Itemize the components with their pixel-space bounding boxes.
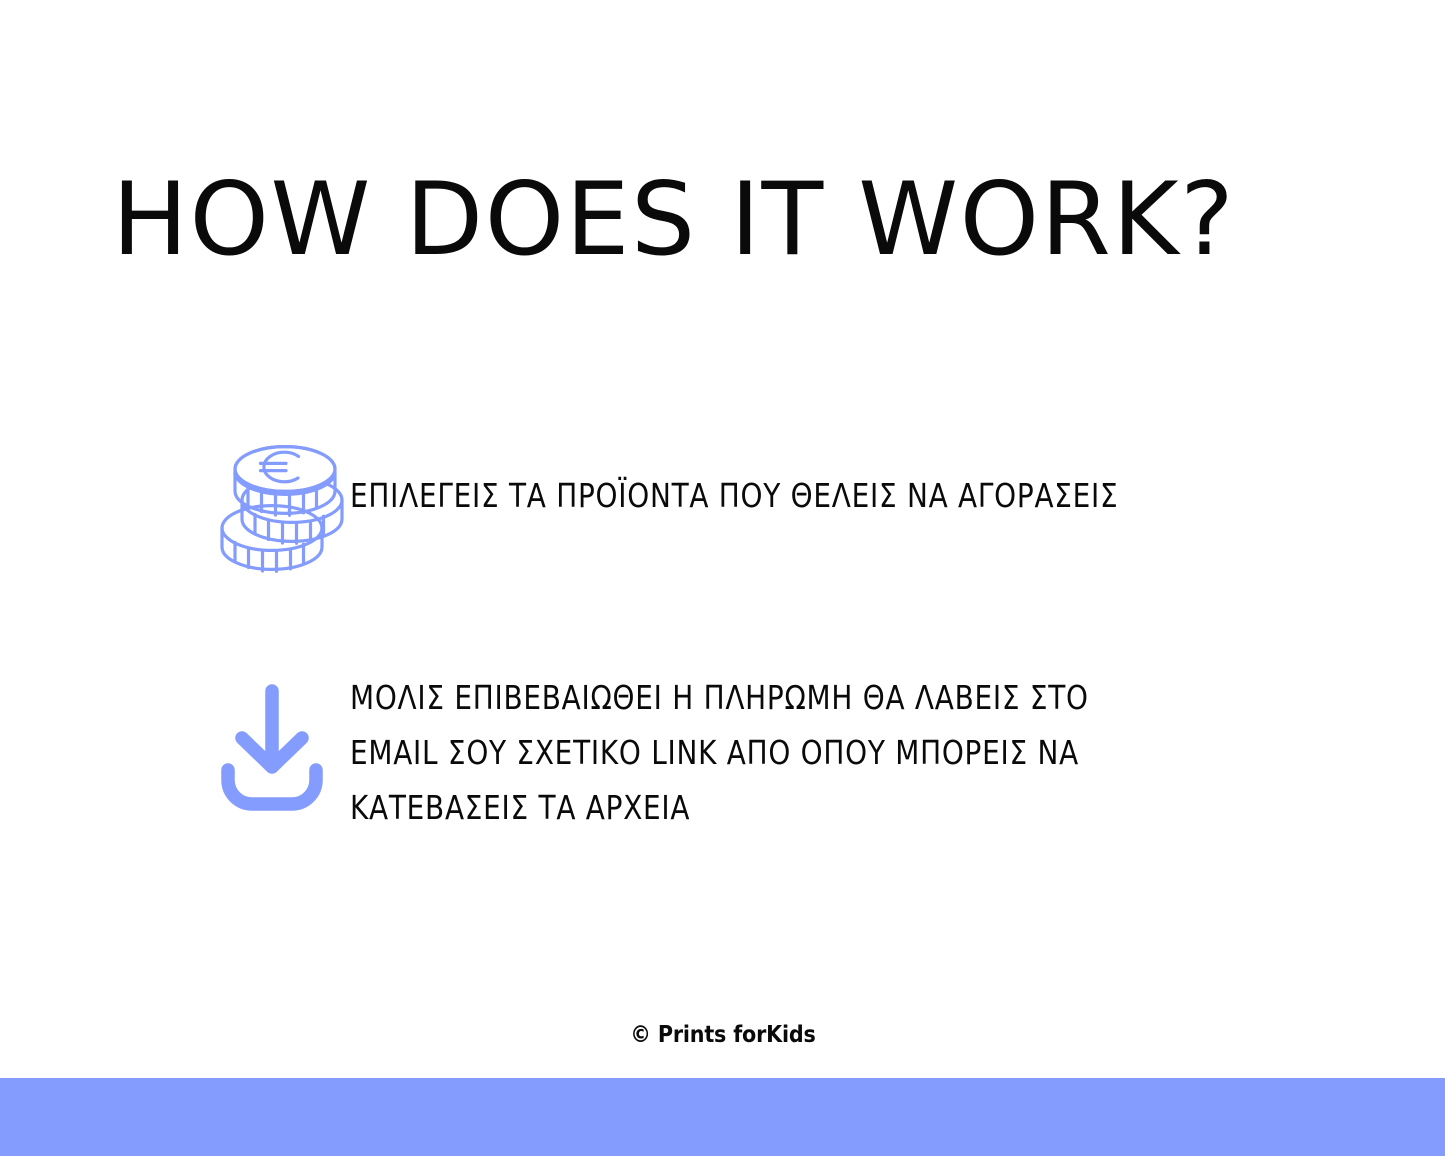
slide-canvas: HOW DOES IT WORK? [0,0,1445,1156]
bottom-accent-bar [0,1078,1445,1156]
download-icon [214,668,350,824]
step-description-line: ΚΑΤΕΒΑΣΕΙΣ ΤΑ ΑΡΧΕΙΑ [350,780,1196,835]
step-description: ΕΠΙΛΕΓΕΙΣ ΤΑ ΠΡΟΪΟΝΤΑ ΠΟΥ ΘΕΛΕΙΣ ΝΑ ΑΓΟΡ… [350,432,1158,523]
coin-stack-euro-icon [214,432,350,580]
step-item-download: ΜΟΛΙΣ ΕΠΙΒΕΒΑΙΩΘΕΙ Η ΠΛΗΡΩΜΗ ΘΑ ΛΑΒΕΙΣ Σ… [214,668,1250,835]
step-description-line: EMAIL ΣΟΥ ΣΧΕΤΙΚΟ LINK ΑΠΟ ΟΠΟΥ ΜΠΟΡΕΙΣ … [350,725,1196,780]
steps-list: ΕΠΙΛΕΓΕΙΣ ΤΑ ΠΡΟΪΟΝΤΑ ΠΟΥ ΘΕΛΕΙΣ ΝΑ ΑΓΟΡ… [0,0,1445,1156]
step-description-line: ΜΟΛΙΣ ΕΠΙΒΕΒΑΙΩΘΕΙ Η ΠΛΗΡΩΜΗ ΘΑ ΛΑΒΕΙΣ Σ… [350,670,1196,725]
footer: © Prints forKids [0,1022,1445,1048]
step-item-purchase: ΕΠΙΛΕΓΕΙΣ ΤΑ ΠΡΟΪΟΝΤΑ ΠΟΥ ΘΕΛΕΙΣ ΝΑ ΑΓΟΡ… [214,432,1210,580]
step-description: ΜΟΛΙΣ ΕΠΙΒΕΒΑΙΩΘΕΙ Η ΠΛΗΡΩΜΗ ΘΑ ΛΑΒΕΙΣ Σ… [350,668,1196,835]
brand-copyright-logo: © Prints forKids [630,1022,815,1048]
